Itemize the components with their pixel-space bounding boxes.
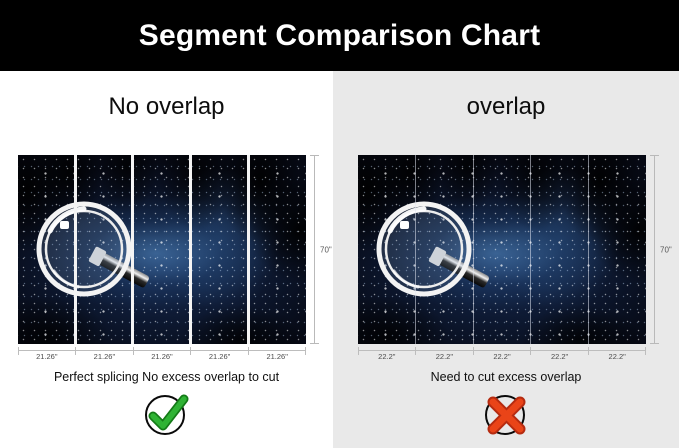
artwork-block-no-overlap	[18, 155, 306, 344]
caption-overlap: Need to cut excess overlap	[333, 371, 679, 384]
segment-width-label: 21.26"	[18, 352, 76, 361]
panel-overlap: overlap	[333, 71, 679, 448]
verdict-no-overlap	[0, 393, 333, 437]
comparison-panels: No overlap	[0, 71, 679, 448]
width-ruler-overlap: 22.2" 22.2" 22.2" 22.2" 22.2"	[358, 347, 646, 367]
segment-divider	[415, 155, 416, 344]
panel-heading-overlap: overlap	[333, 95, 679, 119]
ruler-cap-top	[310, 155, 319, 156]
segment-width-label: 22.2"	[588, 352, 646, 361]
segment-width-label: 21.26"	[76, 352, 134, 361]
caption-no-overlap: Perfect splicing No excess overlap to cu…	[0, 371, 333, 384]
segment-comparison-chart-page: Segment Comparison Chart No overlap	[0, 0, 679, 448]
segment-width-label: 22.2"	[531, 352, 589, 361]
segment-divider	[247, 155, 250, 344]
starry-sky-image-overlap	[358, 155, 646, 344]
segment-width-label: 21.26"	[191, 352, 249, 361]
ruler-cap-top	[650, 155, 659, 156]
segment-divider	[588, 155, 589, 344]
green-check-icon	[143, 393, 191, 437]
ruler-cap-bottom	[310, 343, 319, 344]
ruler-line	[358, 350, 646, 351]
segment-dividers-no-overlap	[18, 155, 306, 344]
segment-width-label: 22.2"	[416, 352, 474, 361]
artwork-block-overlap	[358, 155, 646, 344]
starry-sky-image-no-overlap	[18, 155, 306, 344]
height-label-no-overlap: 70"	[320, 245, 332, 254]
title-bar: Segment Comparison Chart	[0, 0, 679, 71]
ruler-line	[654, 155, 655, 344]
width-ruler-no-overlap: 21.26" 21.26" 21.26" 21.26" 21.26"	[18, 347, 306, 367]
page-title: Segment Comparison Chart	[139, 21, 541, 51]
width-labels-no-overlap: 21.26" 21.26" 21.26" 21.26" 21.26"	[18, 352, 306, 361]
segment-width-label: 22.2"	[358, 352, 416, 361]
ruler-cap-bottom	[650, 343, 659, 344]
height-label-overlap: 70"	[660, 245, 672, 254]
segment-divider	[74, 155, 77, 344]
segment-width-label: 22.2"	[473, 352, 531, 361]
segment-dividers-overlap	[358, 155, 646, 344]
segment-width-label: 21.26"	[133, 352, 191, 361]
verdict-overlap	[333, 393, 679, 437]
panel-no-overlap: No overlap	[0, 71, 333, 448]
height-ruler-overlap: 70"	[650, 155, 679, 344]
segment-divider	[189, 155, 192, 344]
ruler-line	[18, 350, 306, 351]
segment-divider	[131, 155, 134, 344]
red-cross-icon	[482, 393, 530, 437]
panel-heading-no-overlap: No overlap	[0, 95, 333, 119]
width-labels-overlap: 22.2" 22.2" 22.2" 22.2" 22.2"	[358, 352, 646, 361]
segment-width-label: 21.26"	[248, 352, 306, 361]
ruler-line	[314, 155, 315, 344]
segment-divider	[473, 155, 474, 344]
segment-divider	[530, 155, 531, 344]
